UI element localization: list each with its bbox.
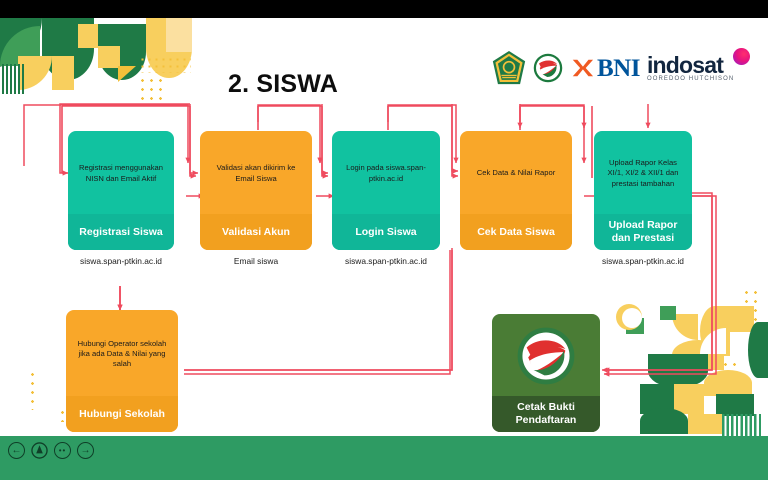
card-body-text: Registrasi menggunakan NISN dan Email Ak… [68, 131, 174, 214]
footer-bar [0, 436, 768, 480]
card-caption-registrasi: siswa.span-ptkin.ac.id [58, 256, 184, 266]
flow-card-upload-rapor[interactable]: Upload Rapor Kelas XI/1, XI/2 & XII/1 da… [594, 131, 692, 250]
card-body-logo [492, 314, 600, 396]
card-body-text: Validasi akan dikirim ke Email Siswa [200, 131, 312, 214]
card-title: Validasi Akun [200, 214, 312, 250]
presentation-slide: 2. SISWA [0, 0, 768, 480]
flow-card-registrasi-siswa[interactable]: Registrasi menggunakan NISN dan Email Ak… [68, 131, 174, 250]
slide-stage: 2. SISWA [0, 18, 768, 462]
card-title: Login Siswa [332, 214, 440, 250]
pen-glyph [31, 442, 48, 459]
card-body-text: Upload Rapor Kelas XI/1, XI/2 & XII/1 da… [594, 131, 692, 214]
footer-controls: ← •• → [8, 442, 94, 459]
card-body-text: Login pada siswa.span-ptkin.ac.id [332, 131, 440, 214]
flow-card-cek-data-siswa[interactable]: Cek Data & Nilai Rapor Cek Data Siswa [460, 131, 572, 250]
back-arrow-icon[interactable]: ← [8, 442, 25, 459]
flow-card-login-siswa[interactable]: Login pada siswa.span-ptkin.ac.id Login … [332, 131, 440, 250]
more-options-icon[interactable]: •• [54, 442, 71, 459]
card-title: Hubungi Sekolah [66, 396, 178, 432]
forward-arrow-icon[interactable]: → [77, 442, 94, 459]
card-title: Cetak Bukti Pendaftaran [492, 396, 600, 432]
flow-card-validasi-akun[interactable]: Validasi akan dikirim ke Email Siswa Val… [200, 131, 312, 250]
card-title: Cek Data Siswa [460, 214, 572, 250]
card-body-text: Cek Data & Nilai Rapor [460, 131, 572, 214]
card-body-text: Hubungi Operator sekolah jika ada Data &… [66, 310, 178, 396]
card-title: Upload Rapor dan Prestasi [594, 214, 692, 250]
card-title: Registrasi Siswa [68, 214, 174, 250]
card-caption-login: siswa.span-ptkin.ac.id [324, 256, 448, 266]
pen-icon[interactable] [31, 442, 48, 459]
card-caption-validasi: Email siswa [196, 256, 316, 266]
flow-card-cetak-bukti[interactable]: Cetak Bukti Pendaftaran [492, 314, 600, 432]
span-ptkin-emblem-icon [515, 325, 577, 387]
card-caption-upload: siswa.span-ptkin.ac.id [582, 256, 704, 266]
flow-card-hubungi-sekolah[interactable]: Hubungi Operator sekolah jika ada Data &… [66, 310, 178, 432]
